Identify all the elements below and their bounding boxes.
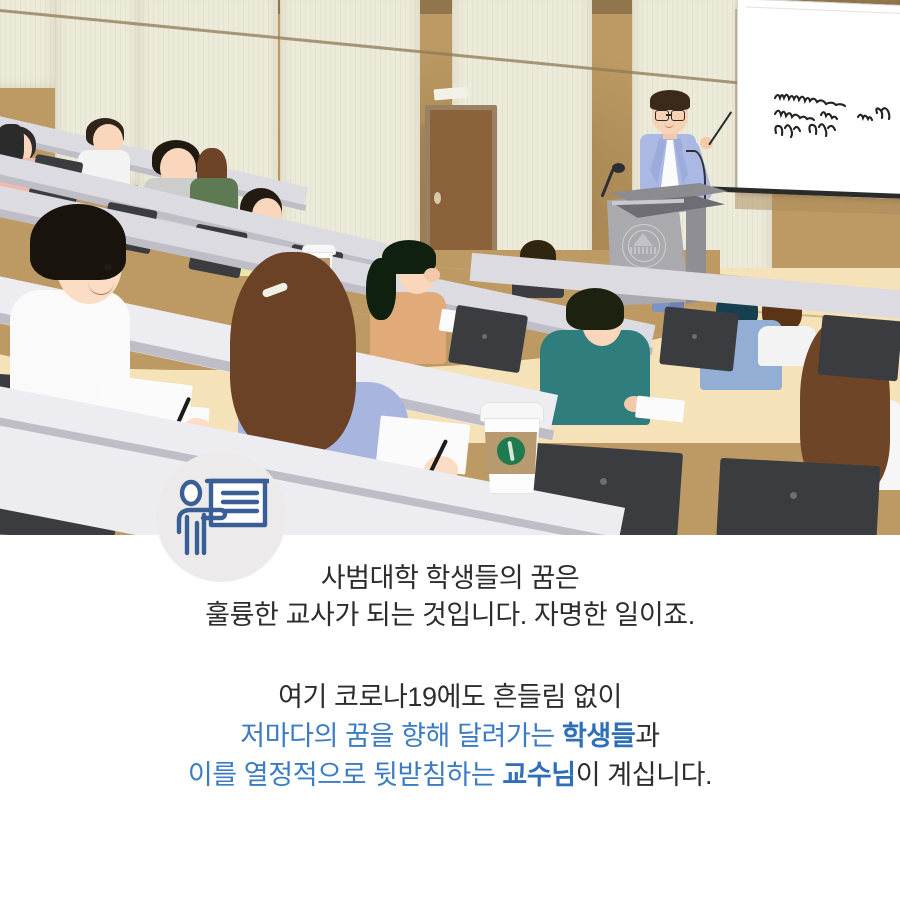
professor-hair <box>650 90 690 110</box>
seat-back <box>448 305 528 374</box>
copy-block: 사범대학 학생들의 꿈은 훌륭한 교사가 되는 것입니다. 자명한 일이죠. 여… <box>0 560 900 795</box>
seat-rivet <box>600 478 607 485</box>
whiteboard-scribble-icon <box>772 88 892 150</box>
seat-back <box>659 306 739 371</box>
text-segment: 과 <box>635 721 659 751</box>
student-hair <box>566 288 624 330</box>
seat-rivet <box>692 334 697 339</box>
seat-back-front <box>716 458 881 535</box>
text-segment-blue-bold: 교수님 <box>502 760 575 790</box>
seat-rivet <box>482 334 487 339</box>
seat-back <box>818 315 900 382</box>
student-hair-long-ponytail <box>230 252 356 452</box>
text-segment-blue: 이를 열정적으로 뒷받침하는 <box>188 760 503 790</box>
text-segment-blue: 저마다의 꿈을 향해 달려가는 <box>240 721 562 751</box>
student-hand <box>424 268 440 282</box>
paragraph-2-line-1: 여기 코로나19에도 흔들림 없이 <box>0 678 900 717</box>
lecture-hall-illustration <box>0 0 900 535</box>
paragraph-spacer <box>0 634 900 678</box>
student-eye <box>104 264 112 271</box>
glasses-bridge <box>666 114 672 116</box>
teacher-presentation-icon <box>173 475 269 559</box>
promo-card: 사범대학 학생들의 꿈은 훌륭한 교사가 되는 것입니다. 자명한 일이죠. 여… <box>0 0 900 900</box>
paragraph-2-line-3: 이를 열정적으로 뒷받침하는 교수님이 계십니다. <box>0 756 900 795</box>
paragraph-2: 여기 코로나19에도 흔들림 없이 저마다의 꿈을 향해 달려가는 학생들과 이… <box>0 678 900 795</box>
emblem-text-marks <box>630 247 656 254</box>
microphone-head <box>612 163 625 173</box>
paragraph-1-line-2: 훌륭한 교사가 되는 것입니다. 자명한 일이죠. <box>0 597 900 634</box>
text-segment-blue-bold: 학생들 <box>562 721 635 751</box>
student-ponytail <box>366 258 396 320</box>
door-knob <box>434 192 441 204</box>
glasses-lens-right <box>671 110 685 121</box>
text-segment: 이 계십니다. <box>576 760 712 790</box>
seat-rivet <box>790 492 797 499</box>
paragraph-1: 사범대학 학생들의 꿈은 훌륭한 교사가 되는 것입니다. 자명한 일이죠. <box>0 560 900 634</box>
paragraph-2-line-2: 저마다의 꿈을 향해 달려가는 학생들과 <box>0 717 900 756</box>
text-segment: 여기 코로나19에도 흔들림 없이 <box>278 682 622 712</box>
paragraph-1-line-1: 사범대학 학생들의 꿈은 <box>0 560 900 597</box>
